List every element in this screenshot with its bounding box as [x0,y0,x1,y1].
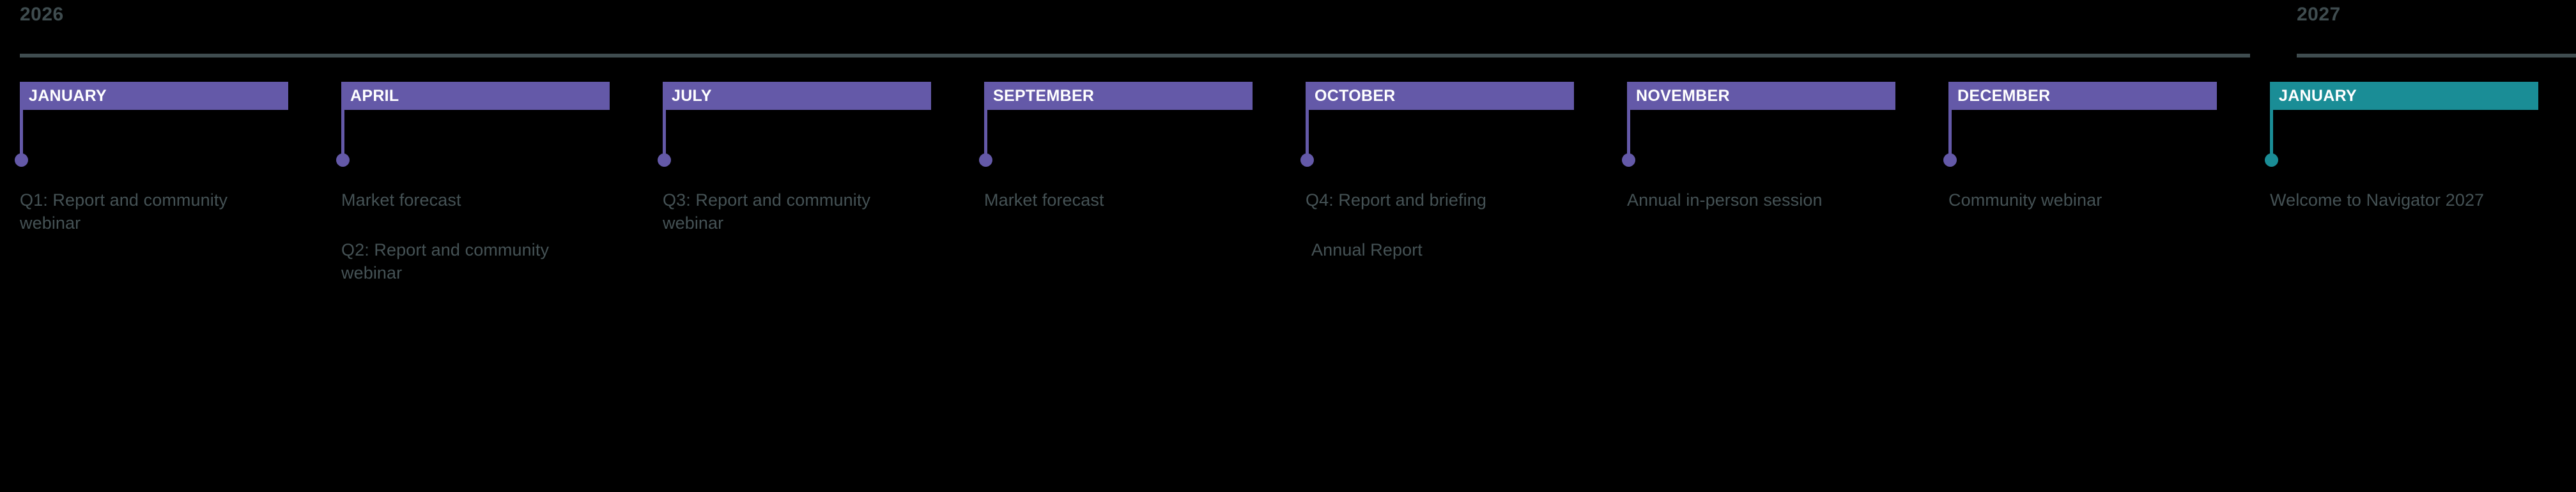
month-label: DECEMBER [1957,88,2050,104]
month-bar[interactable]: APRIL [341,82,610,110]
month-column-october-2026[interactable]: OCTOBERQ4: Report and briefingAnnual Rep… [1306,82,1574,110]
month-label: SEPTEMBER [993,88,1094,104]
timeline-connector-stem [984,110,987,157]
event-item: Q4: Report and briefing [1306,189,1574,212]
month-column-april-2026[interactable]: APRILMarket forecastQ2: Report and commu… [341,82,610,110]
timeline-node-dot[interactable] [1943,153,1957,167]
timeline-node-dot[interactable] [336,153,350,167]
timeline-node-dot[interactable] [2265,153,2278,167]
event-item: Q1: Report and community webinar [20,189,288,235]
year-label-2026: 2026 [20,4,64,26]
month-event-list: Q1: Report and community webinar [20,189,288,235]
event-item: Annual Report [1306,239,1574,262]
year-label-2027: 2027 [2297,4,2341,26]
month-event-list: Market forecastQ2: Report and community … [341,189,610,285]
month-label: JANUARY [29,88,107,104]
month-event-list: Q3: Report and community webinar [663,189,931,235]
timeline-connector-stem [341,110,344,157]
event-item: Q3: Report and community webinar [663,189,931,235]
year-rule-2026 [20,54,2250,58]
month-label: APRIL [350,88,399,104]
month-event-list: Market forecast [984,189,1253,212]
month-event-list: Community webinar [1948,189,2217,212]
timeline-node-dot[interactable] [979,153,992,167]
timeline-node-dot[interactable] [1300,153,1314,167]
event-item: Market forecast [984,189,1253,212]
timeline-connector-stem [1306,110,1309,157]
timeline-node-dot[interactable] [658,153,671,167]
event-item: Community webinar [1948,189,2217,212]
month-bar[interactable]: NOVEMBER [1627,82,1895,110]
month-bar[interactable]: JANUARY [20,82,288,110]
timeline-node-dot[interactable] [15,153,28,167]
month-column-january-2026[interactable]: JANUARYQ1: Report and community webinar [20,82,288,110]
month-label: OCTOBER [1315,88,1396,104]
month-bar[interactable]: JULY [663,82,931,110]
month-column-january-2027[interactable]: JANUARYWelcome to Navigator 2027 [2270,82,2538,110]
timeline-connector-stem [2270,110,2273,157]
timeline-connector-stem [1948,110,1952,157]
month-column-december-2026[interactable]: DECEMBERCommunity webinar [1948,82,2217,110]
month-label: NOVEMBER [1636,88,1730,104]
year-rule-2027 [2297,54,2576,58]
month-column-november-2026[interactable]: NOVEMBERAnnual in-person session [1627,82,1895,110]
month-column-september-2026[interactable]: SEPTEMBERMarket forecast [984,82,1253,110]
timeline-node-dot[interactable] [1622,153,1635,167]
event-item: Q2: Report and community webinar [341,239,610,285]
timeline-connector-stem [20,110,23,157]
event-item: Market forecast [341,189,610,212]
month-bar[interactable]: SEPTEMBER [984,82,1253,110]
event-item: Welcome to Navigator 2027 [2270,189,2538,212]
month-event-list: Annual in-person session [1627,189,1895,212]
month-label: JULY [672,88,712,104]
month-column-july-2026[interactable]: JULYQ3: Report and community webinar [663,82,931,110]
timeline-connector-stem [663,110,666,157]
month-event-list: Welcome to Navigator 2027 [2270,189,2538,212]
roadmap-timeline: 2026 2027 JANUARYQ1: Report and communit… [0,0,2576,492]
month-bar[interactable]: DECEMBER [1948,82,2217,110]
event-item: Annual in-person session [1627,189,1895,212]
timeline-connector-stem [1627,110,1630,157]
month-bar[interactable]: OCTOBER [1306,82,1574,110]
month-event-list: Q4: Report and briefingAnnual Report [1306,189,1574,262]
month-label: JANUARY [2279,88,2357,104]
month-bar[interactable]: JANUARY [2270,82,2538,110]
